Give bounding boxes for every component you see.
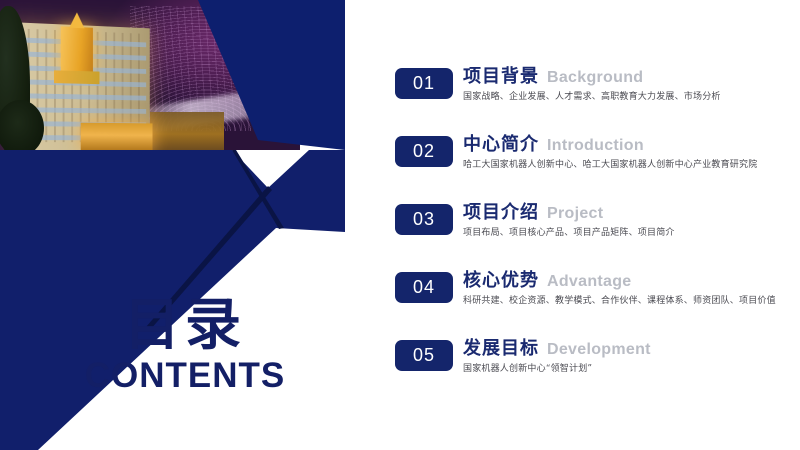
contents-item-05[interactable]: 05 发展目标 Development 国家机器人创新中心“领智计划”: [395, 334, 795, 402]
item-subtitle: 哈工大国家机器人创新中心、哈工大国家机器人创新中心产业教育研究院: [463, 157, 757, 170]
item-heading-row: 项目介绍 Project: [463, 198, 675, 222]
item-title-chinese: 中心简介: [463, 130, 539, 156]
item-number-badge: 04: [395, 272, 453, 303]
building-entrance: [81, 123, 153, 150]
item-title-english: Advantage: [547, 273, 632, 291]
item-number-badge: 02: [395, 136, 453, 167]
item-subtitle: 项目布局、项目核心产品、项目产品矩阵、项目简介: [463, 225, 675, 238]
item-title-english: Background: [547, 69, 643, 87]
item-title-english: Project: [547, 205, 603, 223]
item-heading-row: 核心优势 Advantage: [463, 266, 776, 290]
contents-item-01[interactable]: 01 项目背景 Background 国家战略、企业发展、人才需求、高职教育大力…: [395, 62, 795, 130]
item-text-group: 项目介绍 Project 项目布局、项目核心产品、项目产品矩阵、项目简介: [463, 198, 675, 238]
item-title-chinese: 发展目标: [463, 334, 539, 360]
presentation-slide: 目录 CONTENTS 01 项目背景 Background 国家战略、企业发展…: [0, 0, 800, 450]
page-title: 目录 CONTENTS: [40, 296, 330, 395]
item-text-group: 中心简介 Introduction 哈工大国家机器人创新中心、哈工大国家机器人创…: [463, 130, 757, 170]
item-number-badge: 01: [395, 68, 453, 99]
building-tower: [61, 26, 93, 72]
page-title-chinese: 目录: [40, 296, 330, 355]
item-heading-row: 发展目标 Development: [463, 334, 651, 358]
secondary-building: [150, 112, 224, 150]
item-subtitle: 国家战略、企业发展、人才需求、高职教育大力发展、市场分析: [463, 89, 721, 102]
item-text-group: 发展目标 Development 国家机器人创新中心“领智计划”: [463, 334, 651, 374]
item-subtitle: 国家机器人创新中心“领智计划”: [463, 361, 651, 374]
item-title-chinese: 项目介绍: [463, 198, 539, 224]
item-title-english: Introduction: [547, 137, 644, 155]
item-text-group: 核心优势 Advantage 科研共建、校企资源、教学模式、合作伙伴、课程体系、…: [463, 266, 776, 306]
contents-item-03[interactable]: 03 项目介绍 Project 项目布局、项目核心产品、项目产品矩阵、项目简介: [395, 198, 795, 266]
item-title-chinese: 核心优势: [463, 266, 539, 292]
item-heading-row: 中心简介 Introduction: [463, 130, 757, 154]
contents-item-02[interactable]: 02 中心简介 Introduction 哈工大国家机器人创新中心、哈工大国家机…: [395, 130, 795, 198]
item-subtitle: 科研共建、校企资源、教学模式、合作伙伴、课程体系、师资团队、项目价值: [463, 293, 776, 306]
item-title-chinese: 项目背景: [463, 62, 539, 88]
item-text-group: 项目背景 Background 国家战略、企业发展、人才需求、高职教育大力发展、…: [463, 62, 721, 102]
item-title-english: Development: [547, 341, 651, 359]
item-heading-row: 项目背景 Background: [463, 62, 721, 86]
item-number-badge: 05: [395, 340, 453, 371]
page-title-english: CONTENTS: [40, 357, 330, 396]
contents-list: 01 项目背景 Background 国家战略、企业发展、人才需求、高职教育大力…: [395, 62, 795, 402]
contents-item-04[interactable]: 04 核心优势 Advantage 科研共建、校企资源、教学模式、合作伙伴、课程…: [395, 266, 795, 334]
item-number-badge: 03: [395, 204, 453, 235]
